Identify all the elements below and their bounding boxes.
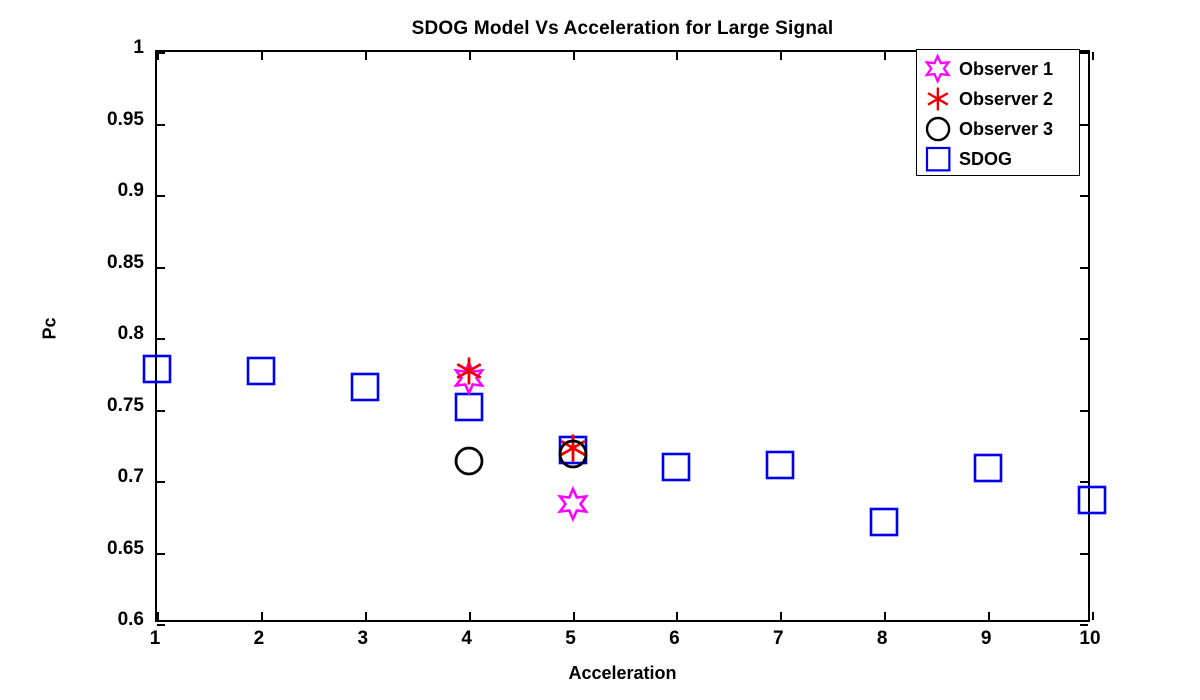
- circle-open-icon: [917, 114, 959, 144]
- x-tick-label: 3: [328, 628, 398, 650]
- y-axis-tick: [157, 124, 165, 126]
- x-axis-tick: [884, 612, 886, 620]
- y-axis-tick-right: [1080, 195, 1088, 197]
- y-axis-tick-right: [1080, 338, 1088, 340]
- asterisk-icon: [917, 84, 959, 114]
- x-tick-label: 5: [536, 628, 606, 650]
- legend-item-label: SDOG: [959, 149, 1012, 170]
- data-point-sdog[interactable]: [973, 453, 1003, 483]
- y-axis-tick-right: [1080, 481, 1088, 483]
- y-axis-tick: [157, 52, 165, 54]
- y-tick-label: 0.6: [40, 609, 144, 631]
- y-axis-tick: [157, 624, 165, 626]
- y-tick-label: 0.65: [40, 538, 144, 560]
- y-tick-label: 0.9: [40, 180, 144, 202]
- x-axis-label: Acceleration: [155, 663, 1090, 684]
- x-axis-tick-top: [780, 52, 782, 60]
- x-tick-label: 1: [120, 628, 190, 650]
- x-tick-label: 2: [224, 628, 294, 650]
- y-tick-label: 0.7: [40, 466, 144, 488]
- y-axis-tick: [157, 338, 165, 340]
- x-axis-tick: [988, 612, 990, 620]
- x-axis-tick-top: [573, 52, 575, 60]
- y-axis-tick-right: [1080, 624, 1088, 626]
- y-tick-label: 0.8: [40, 323, 144, 345]
- x-axis-tick-top: [365, 52, 367, 60]
- x-axis-tick-top: [469, 52, 471, 60]
- legend[interactable]: Observer 1Observer 2Observer 3SDOG: [916, 49, 1080, 176]
- y-axis-tick-right: [1080, 553, 1088, 555]
- y-tick-label: 1: [40, 37, 144, 59]
- y-axis-tick-right: [1080, 52, 1088, 54]
- square-open-icon: [917, 144, 959, 174]
- x-tick-label: 9: [951, 628, 1021, 650]
- data-point-sdog[interactable]: [350, 372, 380, 402]
- data-point-sdog[interactable]: [142, 354, 172, 384]
- x-axis-tick-top: [884, 52, 886, 60]
- legend-item-observer-2[interactable]: Observer 2: [917, 84, 1079, 114]
- x-tick-label: 6: [639, 628, 709, 650]
- legend-item-observer-1[interactable]: Observer 1: [917, 54, 1079, 84]
- x-tick-label: 10: [1055, 628, 1125, 650]
- data-point-observer-1[interactable]: [556, 487, 590, 521]
- x-axis-tick: [1092, 612, 1094, 620]
- y-axis-tick: [157, 267, 165, 269]
- y-axis-tick: [157, 410, 165, 412]
- data-point-sdog[interactable]: [661, 452, 691, 482]
- page-title: SDOG Model Vs Acceleration for Large Sig…: [155, 18, 1090, 40]
- y-tick-label: 0.95: [40, 109, 144, 131]
- y-tick-label: 0.75: [40, 395, 144, 417]
- x-axis-tick: [780, 612, 782, 620]
- x-tick-label: 7: [743, 628, 813, 650]
- legend-item-sdog[interactable]: SDOG: [917, 144, 1079, 174]
- data-point-observer-3[interactable]: [453, 445, 485, 477]
- y-axis-tick: [157, 481, 165, 483]
- y-axis-tick: [157, 553, 165, 555]
- x-tick-label: 8: [847, 628, 917, 650]
- y-tick-label: 0.85: [40, 252, 144, 274]
- data-point-observer-3[interactable]: [557, 438, 589, 470]
- x-axis-tick: [676, 612, 678, 620]
- y-axis-tick-right: [1080, 124, 1088, 126]
- x-axis-tick: [157, 612, 159, 620]
- x-axis-tick-top: [676, 52, 678, 60]
- x-tick-label: 4: [432, 628, 502, 650]
- data-point-sdog[interactable]: [765, 450, 795, 480]
- figure-canvas: SDOG Model Vs Acceleration for Large Sig…: [0, 0, 1200, 700]
- data-point-sdog[interactable]: [246, 356, 276, 386]
- legend-item-label: Observer 2: [959, 89, 1053, 110]
- legend-item-observer-3[interactable]: Observer 3: [917, 114, 1079, 144]
- hexagram-star-open-icon: [917, 54, 959, 84]
- legend-item-label: Observer 1: [959, 59, 1053, 80]
- legend-item-label: Observer 3: [959, 119, 1053, 140]
- data-point-sdog[interactable]: [869, 507, 899, 537]
- x-axis-tick: [261, 612, 263, 620]
- x-axis-tick-top: [261, 52, 263, 60]
- x-axis-tick: [573, 612, 575, 620]
- data-point-observer-2[interactable]: [454, 356, 484, 386]
- y-axis-tick-right: [1080, 267, 1088, 269]
- x-axis-tick: [469, 612, 471, 620]
- y-axis-tick-right: [1080, 410, 1088, 412]
- data-point-sdog[interactable]: [1077, 485, 1107, 515]
- x-axis-tick-top: [1092, 52, 1094, 60]
- x-axis-tick: [365, 612, 367, 620]
- y-axis-tick: [157, 195, 165, 197]
